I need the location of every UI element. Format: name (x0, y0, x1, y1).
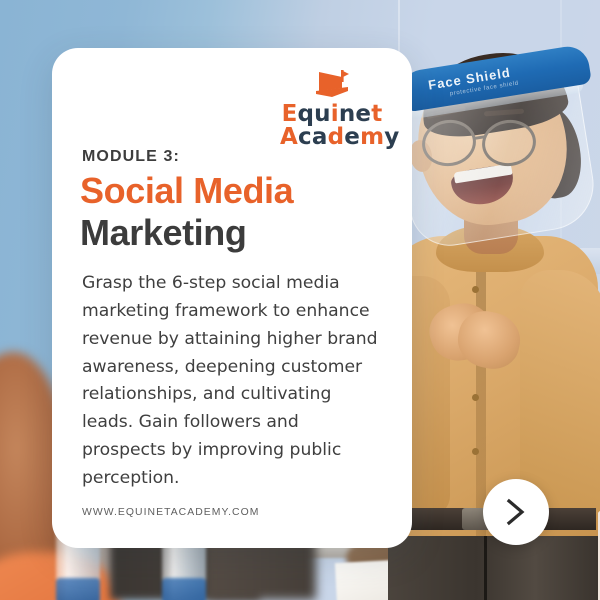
body-copy: Grasp the 6-step social media marketing … (82, 270, 382, 493)
trouser-seam (484, 528, 487, 600)
chevron-right-icon (503, 497, 529, 527)
equinet-flag-logo-mark (312, 70, 352, 100)
shirt-button (472, 286, 479, 293)
website-url: WWW.EQUINETACADEMY.COM (82, 507, 259, 518)
brand-logo-line1: Equinet (280, 103, 384, 126)
brand-logo-wordmark: Equinet Academy (280, 103, 384, 150)
shirt-button (472, 394, 479, 401)
brand-logo-line2: Academy (280, 126, 384, 149)
trousers (388, 528, 598, 600)
module-eyebrow: MODULE 3: (82, 148, 180, 166)
page-title-line2: Marketing (80, 212, 293, 254)
page-title-line1: Social Media (80, 170, 293, 212)
brand-logo: Equinet Academy (280, 70, 384, 150)
shirt-button (472, 448, 479, 455)
content-card: Equinet Academy MODULE 3: Social Media M… (52, 48, 412, 548)
page-title: Social Media Marketing (80, 170, 293, 255)
next-button[interactable] (483, 479, 549, 545)
slide-root: Face Shield protective face shield Equin… (0, 0, 600, 600)
